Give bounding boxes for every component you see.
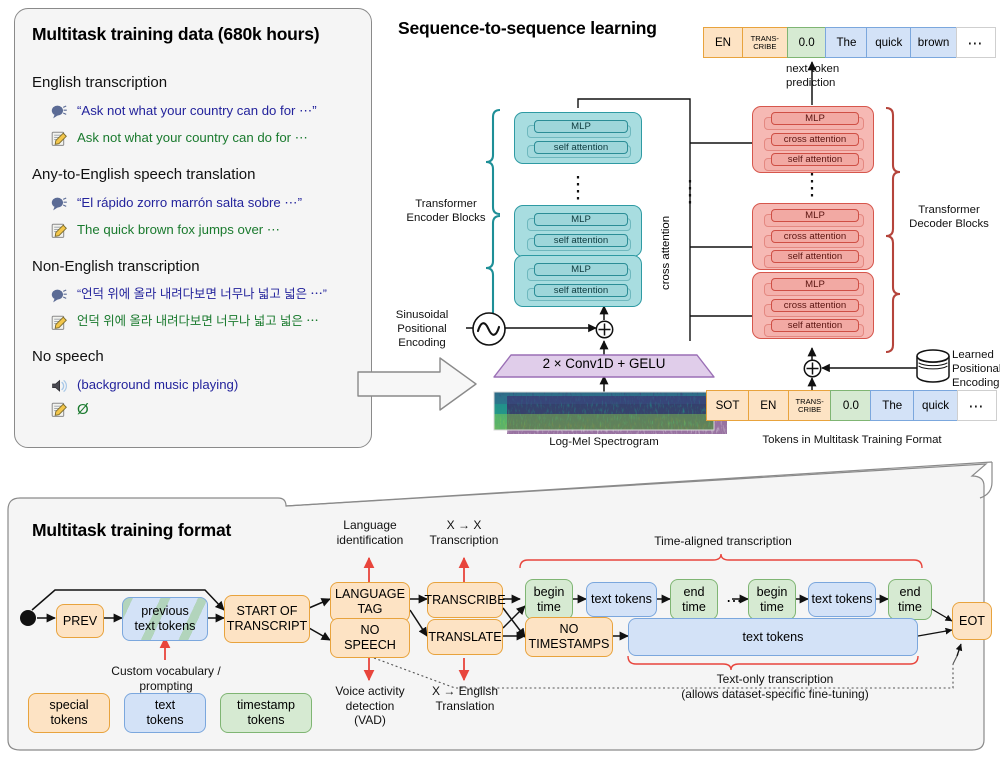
- node-no-timestamps-line2: TIMESTAMPS: [529, 637, 610, 652]
- node-no-speech-line2: SPEECH: [344, 638, 396, 653]
- node-begin-time-line1: begin: [757, 585, 788, 600]
- decoder-block-top: MLP cross attention self attention: [752, 106, 874, 173]
- node-end-time-2[interactable]: end time: [888, 579, 932, 620]
- vad-line1: Voice activity: [316, 684, 424, 699]
- node-end-time-line1: end: [899, 585, 920, 600]
- input-token-4: The: [870, 390, 914, 421]
- input-token-0: SOT: [706, 390, 749, 421]
- node-end-time-line2: time: [898, 600, 922, 615]
- input-token-3: 0.0: [830, 390, 871, 421]
- learned-positional-encoding-caption: Learned Positional Encoding: [952, 349, 1000, 391]
- lang-id-line1: Language: [318, 518, 422, 533]
- node-begin-time-line2: time: [537, 600, 561, 615]
- decoder-caption-line2: Decoder Blocks: [903, 218, 995, 232]
- node-transcribe[interactable]: TRANSCRIBE: [427, 582, 503, 618]
- sinusoidal-line2: Positional: [376, 323, 468, 337]
- annotation-language-identification: Language identification: [318, 518, 422, 547]
- legend-special-tokens: special tokens: [28, 693, 110, 733]
- node-language-tag[interactable]: LANGUAGE TAG: [330, 582, 410, 622]
- input-token-2-line1: CRIBE: [798, 406, 821, 414]
- text-only-line1: Text-only transcription: [650, 672, 900, 687]
- node-begin-time-line1: begin: [534, 585, 565, 600]
- spectrogram-caption: Log-Mel Spectrogram: [494, 436, 714, 450]
- node-end-time-line2: time: [682, 600, 706, 615]
- conv1d-gelu-label: 2 × Conv1D + GELU: [493, 356, 715, 371]
- legend-text-tokens: text tokens: [124, 693, 206, 733]
- input-token-2: TRANS-CRIBE: [788, 390, 832, 421]
- node-text-tokens-1[interactable]: text tokens: [586, 582, 657, 617]
- encoder-mlp: MLP: [534, 263, 628, 276]
- sinusoidal-positional-encoding-caption: Sinusoidal Positional Encoding: [376, 309, 468, 351]
- node-end-time-1[interactable]: end time: [670, 579, 718, 620]
- encoder-block-middle: MLP self attention: [514, 205, 642, 257]
- decoder-caption: Transformer Decoder Blocks: [903, 204, 995, 232]
- node-previous-text-tokens[interactable]: previous text tokens: [122, 597, 208, 641]
- node-text-tokens-long[interactable]: text tokens: [628, 618, 918, 656]
- node-previous-text-line1: previous: [141, 604, 189, 619]
- encoder-caption-line2: Encoder Blocks: [398, 212, 494, 226]
- node-begin-time-line2: time: [760, 600, 784, 615]
- custom-vocab-line1: Custom vocabulary /: [95, 664, 237, 679]
- sinusoidal-line1: Sinusoidal: [376, 309, 468, 323]
- vad-line2: detection: [316, 699, 424, 714]
- cross-attention-label: cross attention: [660, 180, 674, 290]
- legend-stamp-line2: tokens: [247, 713, 284, 728]
- input-token-sequence: SOTENTRANS-CRIBE0.0Thequick⋯: [706, 390, 997, 421]
- node-begin-time-1[interactable]: begin time: [525, 579, 573, 620]
- text-only-line2: (allows dataset-specific fine-tuning): [650, 687, 900, 702]
- tokens-caption: Tokens in Multitask Training Format: [692, 434, 1000, 448]
- annotation-custom-vocabulary: Custom vocabulary / prompting: [95, 664, 237, 693]
- encoder-block-top: MLP self attention: [514, 112, 642, 164]
- lang-id-line2: identification: [318, 533, 422, 548]
- custom-vocab-line2: prompting: [95, 679, 237, 694]
- decoder-caption-line1: Transformer: [903, 204, 995, 218]
- legend-special-line1: special: [49, 698, 88, 713]
- decoder-mlp: MLP: [771, 112, 859, 125]
- decoder-cross-attention: cross attention: [771, 299, 859, 312]
- decoder-cross-attention: cross attention: [771, 230, 859, 243]
- ellipsis-timeline: ⋯: [723, 591, 747, 611]
- node-end-time-line1: end: [683, 585, 704, 600]
- x-to-en-line2: Translation: [412, 699, 518, 714]
- node-begin-time-2[interactable]: begin time: [748, 579, 796, 620]
- decoder-mlp: MLP: [771, 278, 859, 291]
- x-to-en-line1: X → English: [412, 684, 518, 699]
- input-token-1: EN: [748, 390, 789, 421]
- legend-timestamp-tokens: timestamp tokens: [220, 693, 312, 733]
- node-start-line1: START OF: [237, 604, 298, 619]
- encoder-caption: Transformer Encoder Blocks: [398, 198, 494, 226]
- node-no-speech[interactable]: NO SPEECH: [330, 618, 410, 658]
- x-to-x-line2: Transcription: [412, 533, 516, 548]
- decoder-block-middle: MLP cross attention self attention: [752, 203, 874, 270]
- node-no-timestamps-line1: NO: [560, 622, 579, 637]
- flowchart-nodes: PREV previous text tokens START OF TRANS…: [0, 458, 1000, 758]
- input-token-5: quick: [913, 390, 958, 421]
- node-previous-text-line2: text tokens: [135, 619, 196, 634]
- encoder-caption-line1: Transformer: [398, 198, 494, 212]
- vad-line3: (VAD): [316, 713, 424, 728]
- x-to-x-line1: X → X: [412, 518, 516, 533]
- legend-stamp-line1: timestamp: [237, 698, 295, 713]
- encoder-mlp: MLP: [534, 213, 628, 226]
- encoder-self-attention: self attention: [534, 234, 628, 247]
- node-language-tag-line2: TAG: [358, 602, 383, 617]
- node-no-speech-line1: NO: [361, 623, 380, 638]
- node-language-tag-line1: LANGUAGE: [335, 587, 405, 602]
- input-token-6: ⋯: [957, 390, 997, 421]
- encoder-self-attention: self attention: [534, 284, 628, 297]
- legend-special-line2: tokens: [50, 713, 87, 728]
- encoder-mlp: MLP: [534, 120, 628, 133]
- annotation-time-aligned-transcription: Time-aligned transcription: [620, 534, 826, 549]
- decoder-self-attention: self attention: [771, 153, 859, 166]
- node-start-line2: TRANSCRIPT: [227, 619, 307, 634]
- decoder-block-bottom: MLP cross attention self attention: [752, 272, 874, 339]
- node-text-tokens-2[interactable]: text tokens: [808, 582, 876, 617]
- learned-line2: Positional: [952, 363, 1000, 377]
- annotation-x-to-english-translation: X → English Translation: [412, 684, 518, 713]
- learned-line3: Encoding: [952, 377, 1000, 391]
- decoder-cross-attention: cross attention: [771, 133, 859, 146]
- annotation-text-only-transcription: Text-only transcription (allows dataset-…: [650, 672, 900, 701]
- node-prev[interactable]: PREV: [56, 604, 104, 638]
- decoder-self-attention: self attention: [771, 250, 859, 263]
- learned-line1: Learned: [952, 349, 1000, 363]
- annotation-voice-activity-detection: Voice activity detection (VAD): [316, 684, 424, 728]
- node-start-of-transcript[interactable]: START OF TRANSCRIPT: [224, 595, 310, 643]
- encoder-block-bottom: MLP self attention: [514, 255, 642, 307]
- node-translate[interactable]: TRANSLATE: [427, 619, 503, 655]
- decoder-self-attention: self attention: [771, 319, 859, 332]
- legend-text-line1: text: [155, 698, 175, 713]
- node-eot[interactable]: EOT: [952, 602, 992, 640]
- sinusoidal-line3: Encoding: [376, 337, 468, 351]
- decoder-mlp: MLP: [771, 209, 859, 222]
- encoder-self-attention: self attention: [534, 141, 628, 154]
- legend-text-line2: tokens: [146, 713, 183, 728]
- annotation-x-to-x-transcription: X → X Transcription: [412, 518, 516, 547]
- node-no-timestamps[interactable]: NO TIMESTAMPS: [525, 617, 613, 657]
